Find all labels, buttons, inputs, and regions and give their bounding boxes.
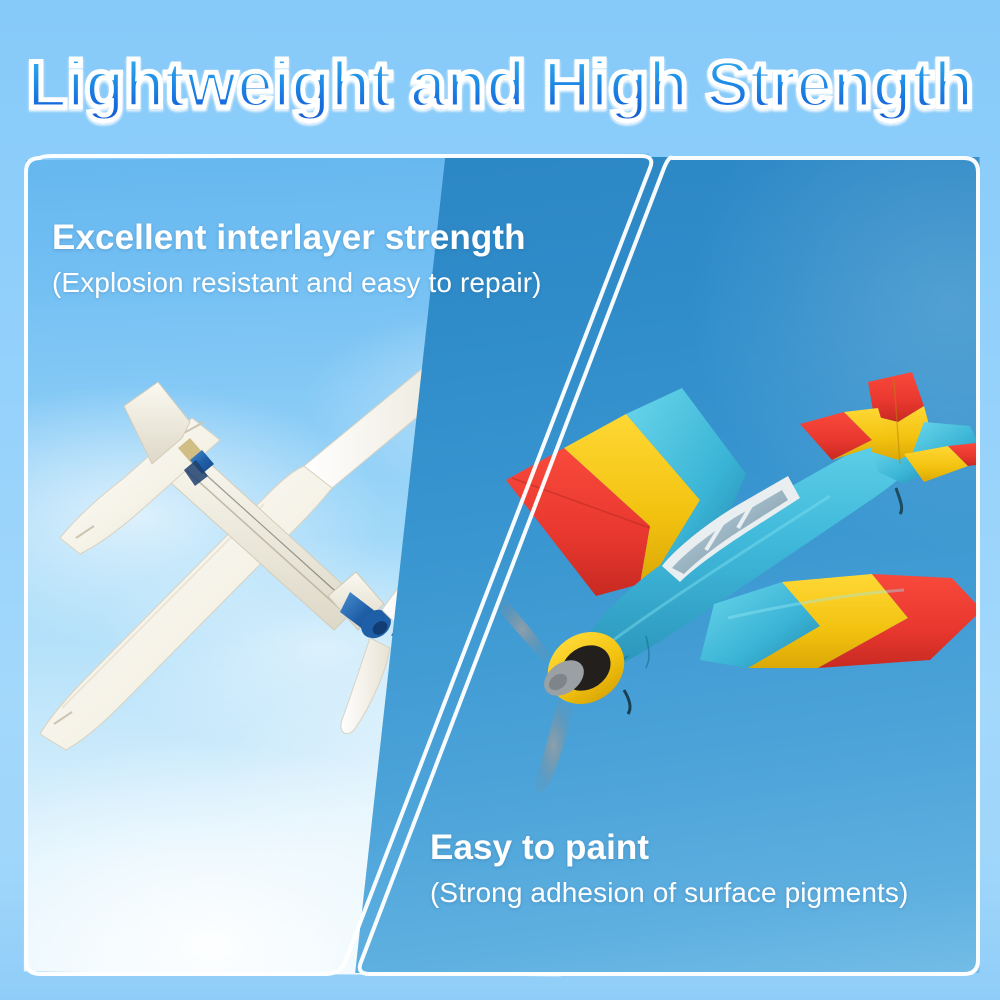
caption-left-heading: Excellent interlayer strength bbox=[52, 218, 542, 258]
caption-left: Excellent interlayer strength (Explosion… bbox=[52, 218, 542, 299]
warbird-propeller-lower bbox=[535, 700, 572, 792]
product-feature-poster: Lightweight and High Strength Excellent … bbox=[0, 0, 1000, 1000]
caption-right-heading: Easy to paint bbox=[430, 828, 908, 868]
caption-right-subheading: (Strong adhesion of surface pigments) bbox=[430, 877, 908, 909]
caption-left-subheading: (Explosion resistant and easy to repair) bbox=[52, 267, 542, 299]
warbird-nose-wire bbox=[624, 690, 630, 714]
poster-title-wrap: Lightweight and High Strength bbox=[0, 44, 1000, 126]
glider-propeller-lower bbox=[341, 638, 390, 734]
warbird-tail-wire bbox=[896, 488, 902, 514]
warbird-propeller-upper bbox=[500, 596, 550, 662]
glider-main-wing bbox=[40, 466, 332, 750]
painted-warbird-photo bbox=[500, 368, 982, 808]
caption-right: Easy to paint (Strong adhesion of surfac… bbox=[430, 828, 908, 909]
poster-title: Lightweight and High Strength bbox=[27, 44, 973, 124]
